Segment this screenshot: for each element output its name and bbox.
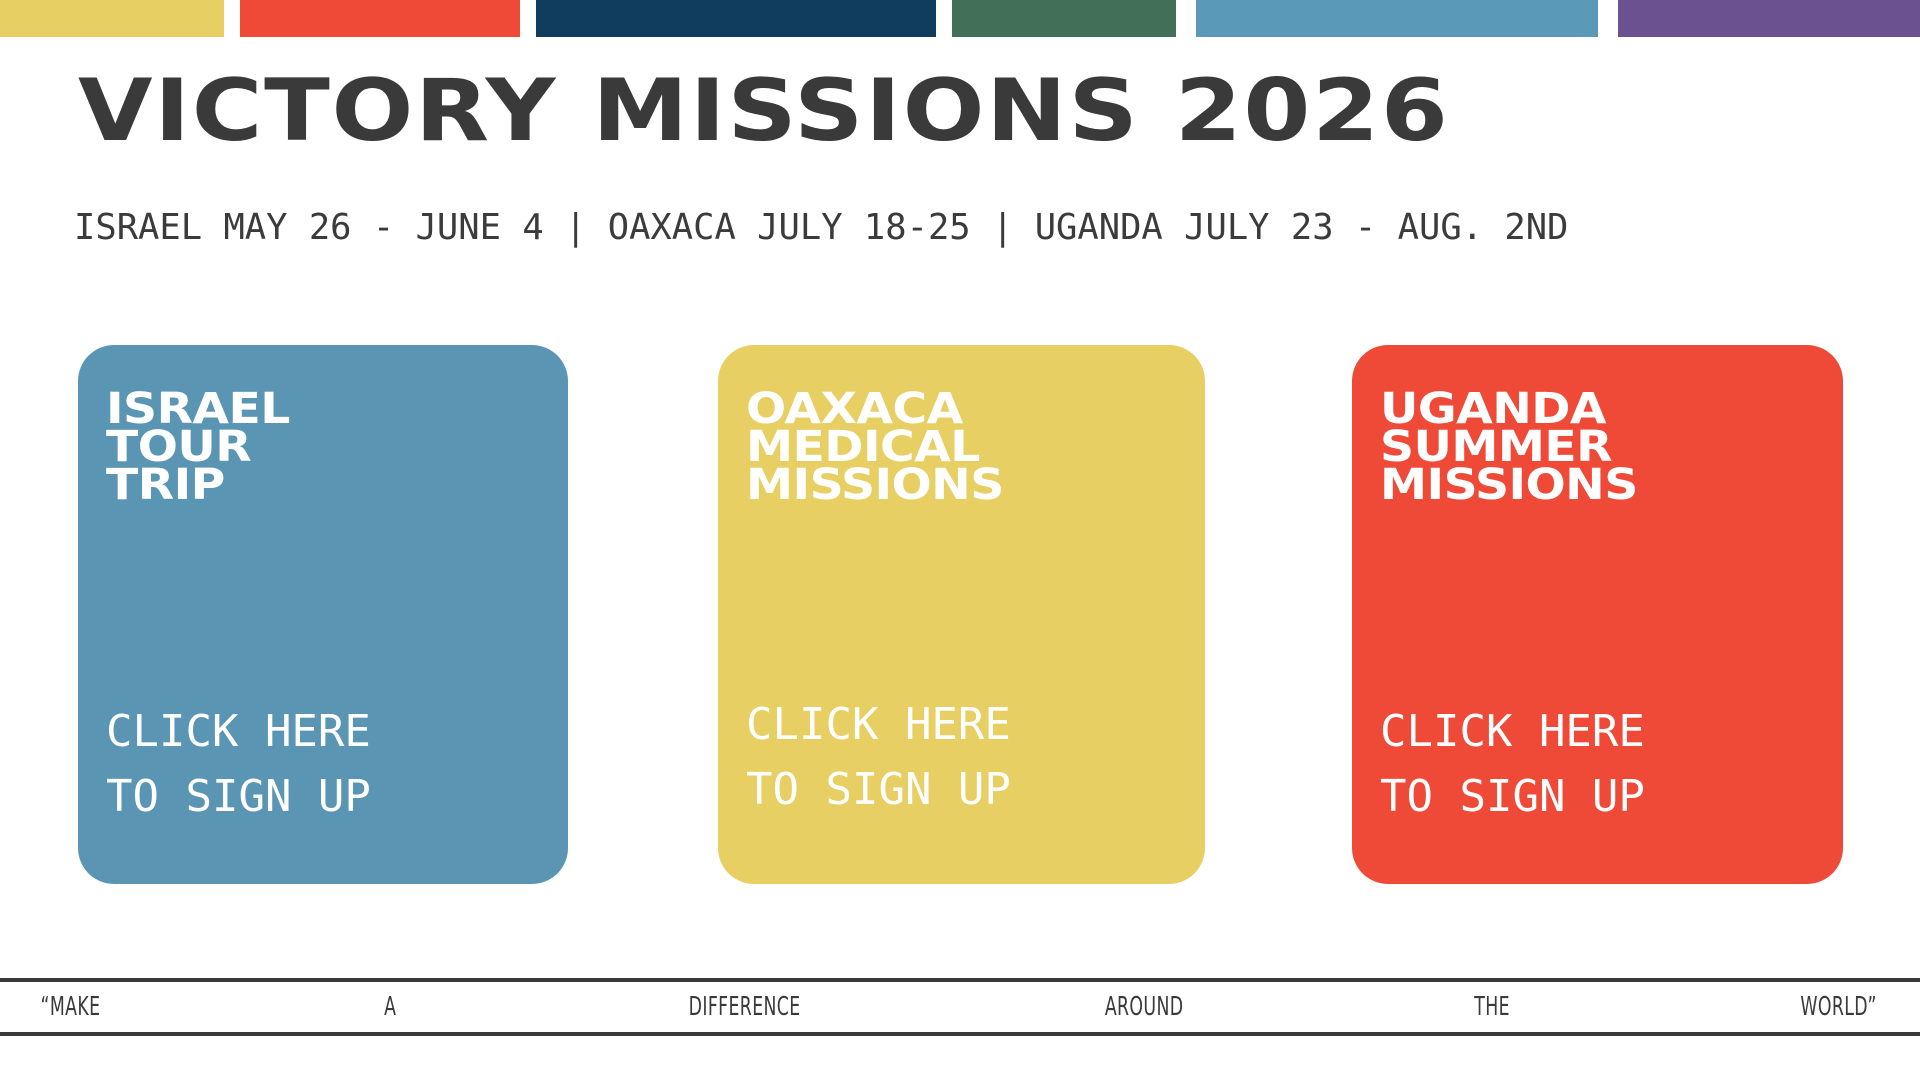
card-heading-uganda-summer-missions: UGANDA SUMMER MISSIONS	[1380, 390, 1638, 504]
footer-word: THE	[1474, 992, 1510, 1022]
card-heading-israel-tour-trip: ISRAEL TOUR TRIP	[106, 390, 290, 504]
footer-word: DIFFERENCE	[689, 992, 801, 1022]
top-color-bar	[0, 0, 1920, 37]
color-bar-segment-purple	[1618, 0, 1920, 37]
card-signup-link-uganda-summer-missions[interactable]: CLICK HERE TO SIGN UP	[1380, 699, 1645, 829]
color-bar-segment-light-blue	[1196, 0, 1598, 37]
card-signup-link-israel-tour-trip[interactable]: CLICK HERE TO SIGN UP	[106, 699, 371, 829]
mission-card-israel-tour-trip[interactable]: ISRAEL TOUR TRIPCLICK HERE TO SIGN UP	[78, 345, 568, 884]
footer-word: “MAKE	[41, 992, 101, 1022]
mission-card-uganda-summer-missions[interactable]: UGANDA SUMMER MISSIONSCLICK HERE TO SIGN…	[1352, 345, 1843, 884]
page-subtitle-dates: ISRAEL MAY 26 - JUNE 4 | OAXACA JULY 18-…	[74, 208, 1568, 248]
color-bar-segment-yellow	[0, 0, 224, 37]
footer-word: A	[384, 992, 396, 1022]
footer-word: AROUND	[1105, 992, 1184, 1022]
mission-card-oaxaca-medical-missions[interactable]: OAXACA MEDICAL MISSIONSCLICK HERE TO SIG…	[718, 345, 1205, 884]
card-signup-link-oaxaca-medical-missions[interactable]: CLICK HERE TO SIGN UP	[746, 692, 1011, 822]
footer-word: WORLD”	[1800, 992, 1876, 1022]
color-bar-segment-navy	[536, 0, 936, 37]
footer-quote-bar: “MAKEADIFFERENCEAROUNDTHEWORLD”	[0, 978, 1920, 1036]
color-bar-segment-green	[952, 0, 1176, 37]
card-heading-oaxaca-medical-missions: OAXACA MEDICAL MISSIONS	[746, 390, 1004, 504]
color-bar-segment-red	[240, 0, 520, 37]
page-title: VICTORY MISSIONS 2026	[78, 68, 1920, 154]
